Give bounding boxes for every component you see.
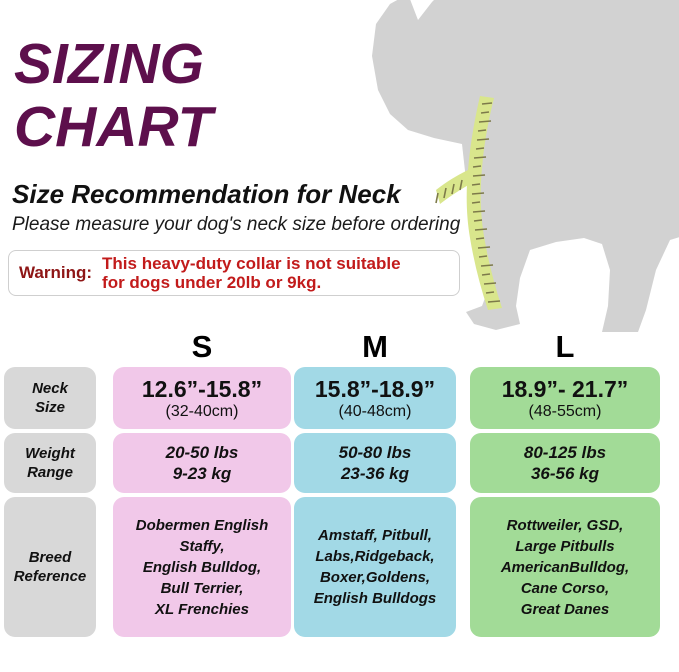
neck-size-value-l: 18.9”- 21.7” — [502, 376, 629, 402]
breed-list-m: Amstaff, Pitbull, Labs,Ridgeback, Boxer,… — [308, 525, 443, 609]
breed-list-s: Dobermen English Staffy, English Bulldog… — [130, 515, 275, 620]
page-title: SIZING CHART — [14, 36, 484, 156]
cell-neck-size-m: 15.8”-18.9” (40-48cm) — [294, 367, 456, 429]
neck-size-value-m: 15.8”-18.9” — [315, 376, 435, 402]
title-line-sizing: SIZING — [14, 36, 484, 93]
row-label-breed-reference: Breed Reference — [4, 497, 96, 637]
warning-message: This heavy-duty collar is not suitable f… — [102, 254, 401, 292]
breed-line: Amstaff, Pitbull, — [314, 525, 437, 546]
cell-breed-reference-m: Amstaff, Pitbull, Labs,Ridgeback, Boxer,… — [294, 497, 456, 637]
breed-line: Dobermen English — [136, 515, 269, 536]
weight-lbs-s: 20-50 lbs — [166, 442, 239, 463]
row-label-line-2: Range — [25, 463, 75, 482]
breed-list-l: Rottweiler, GSD, Large Pitbulls American… — [495, 515, 635, 620]
neck-size-value-s: 12.6”-15.8” — [142, 376, 262, 402]
cell-weight-range-m: 50-80 lbs 23-36 kg — [294, 433, 456, 493]
breed-line: Bull Terrier, — [136, 578, 269, 599]
table-row: Breed Reference Dobermen English Staffy,… — [0, 497, 679, 637]
breed-line: Large Pitbulls — [501, 536, 629, 557]
instruction-text: Please measure your dog's neck size befo… — [12, 214, 460, 236]
cell-weight-range-l: 80-125 lbs 36-56 kg — [470, 433, 660, 493]
cell-neck-size-s: 12.6”-15.8” (32-40cm) — [113, 367, 291, 429]
column-header-s: S — [113, 330, 291, 363]
cell-breed-reference-s: Dobermen English Staffy, English Bulldog… — [113, 497, 291, 637]
breed-line: English Bulldogs — [314, 588, 437, 609]
sizing-chart-page: SIZING CHART Size Recommendation for Nec… — [0, 0, 679, 672]
breed-line: Boxer,Goldens, — [314, 567, 437, 588]
row-label-line-2: Size — [32, 398, 68, 417]
weight-kg-l: 36-56 kg — [524, 463, 606, 484]
breed-line: Staffy, — [136, 536, 269, 557]
table-row: Weight Range 20-50 lbs 9-23 kg 50-80 lbs… — [0, 433, 679, 493]
weight-kg-m: 23-36 kg — [339, 463, 412, 484]
warning-message-line-2: for dogs under 20lb or 9kg. — [102, 273, 401, 292]
neck-size-metric-m: (40-48cm) — [315, 402, 435, 421]
weight-lbs-l: 80-125 lbs — [524, 442, 606, 463]
warning-label: Warning: — [19, 263, 92, 283]
cell-breed-reference-l: Rottweiler, GSD, Large Pitbulls American… — [470, 497, 660, 637]
neck-size-metric-s: (32-40cm) — [142, 402, 262, 421]
size-table: S M L Neck Size 12.6”-15.8” (32-40cm) 15… — [0, 330, 679, 637]
table-header-row: S M L — [0, 330, 679, 363]
row-label-line-1: Weight — [25, 444, 75, 463]
cell-weight-range-s: 20-50 lbs 9-23 kg — [113, 433, 291, 493]
row-label-line-1: Breed — [14, 548, 87, 567]
breed-line: Great Danes — [501, 599, 629, 620]
subtitle: Size Recommendation for Neck — [12, 180, 401, 208]
column-header-m: M — [294, 330, 456, 363]
warning-box: Warning: This heavy-duty collar is not s… — [8, 250, 460, 296]
cell-neck-size-l: 18.9”- 21.7” (48-55cm) — [470, 367, 660, 429]
row-label-neck-size: Neck Size — [4, 367, 96, 429]
breed-line: Labs,Ridgeback, — [314, 546, 437, 567]
breed-line: English Bulldog, — [136, 557, 269, 578]
breed-line: Rottweiler, GSD, — [501, 515, 629, 536]
warning-message-line-1: This heavy-duty collar is not suitable — [102, 254, 401, 273]
breed-line: XL Frenchies — [136, 599, 269, 620]
title-line-chart: CHART — [14, 99, 484, 156]
row-label-weight-range: Weight Range — [4, 433, 96, 493]
weight-lbs-m: 50-80 lbs — [339, 442, 412, 463]
row-label-line-1: Neck — [32, 379, 68, 398]
breed-line: Cane Corso, — [501, 578, 629, 599]
breed-line: AmericanBulldog, — [501, 557, 629, 578]
column-header-l: L — [470, 330, 660, 363]
table-row: Neck Size 12.6”-15.8” (32-40cm) 15.8”-18… — [0, 367, 679, 429]
weight-kg-s: 9-23 kg — [166, 463, 239, 484]
row-label-line-2: Reference — [14, 567, 87, 586]
neck-size-metric-l: (48-55cm) — [502, 402, 629, 421]
